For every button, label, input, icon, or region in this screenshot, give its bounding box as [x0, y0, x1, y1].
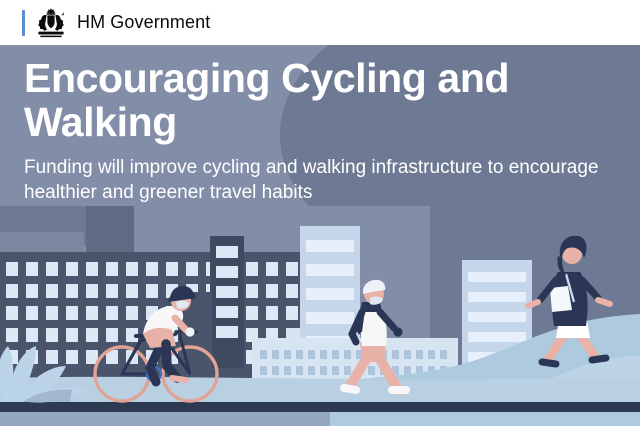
- city-scene-svg: [0, 206, 640, 426]
- government-campaign-poster: HM Government Encouraging Cycling and Wa…: [0, 0, 640, 426]
- city-scene-illustration: [0, 206, 640, 426]
- brand-rule-divider: [22, 10, 25, 36]
- gov-header: HM Government: [0, 0, 640, 45]
- royal-coat-of-arms-crest-icon: [34, 7, 68, 39]
- gov-brand-name: HM Government: [77, 12, 210, 33]
- hero-subheading: Funding will improve cycling and walking…: [24, 155, 624, 206]
- hero-banner: Encouraging Cycling and Walking Funding …: [0, 45, 640, 426]
- road-band: [0, 402, 640, 412]
- page-title: Encouraging Cycling and Walking: [24, 57, 624, 145]
- walker2-shoe-back: [542, 362, 556, 364]
- walker2-shoe-front: [592, 358, 606, 360]
- walker-shoe-back: [344, 388, 356, 390]
